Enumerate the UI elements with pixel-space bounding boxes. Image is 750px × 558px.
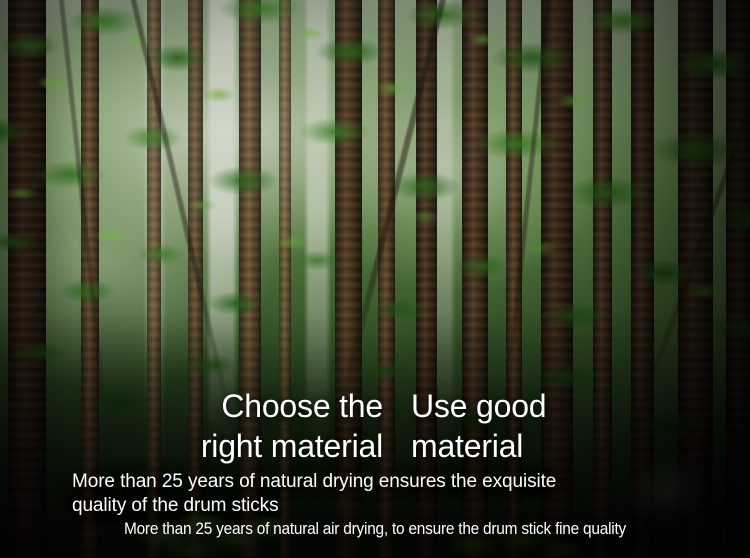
headline-left: Choose the right material — [139, 386, 383, 466]
headline-right: Use good material — [411, 386, 611, 466]
headline-row: Choose the right material Use good mater… — [0, 386, 750, 466]
text-overlay: Choose the right material Use good mater… — [0, 0, 750, 558]
footer-caption: More than 25 years of natural air drying… — [24, 518, 725, 540]
body-description: More than 25 years of natural drying ens… — [72, 470, 612, 517]
forest-promo-banner: Choose the right material Use good mater… — [0, 0, 750, 558]
